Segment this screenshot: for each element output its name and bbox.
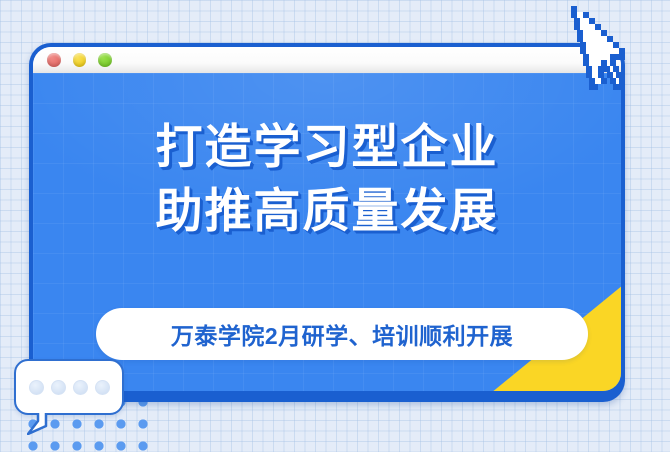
headline-line-1: 打造学习型企业 bbox=[33, 115, 621, 179]
maximize-button[interactable] bbox=[98, 53, 112, 67]
chat-bubble-tail bbox=[27, 409, 53, 435]
close-button[interactable] bbox=[47, 53, 61, 67]
browser-window-card: 打造学习型企业 助推高质量发展 万泰学院2月研学、培训顺利开展 bbox=[29, 43, 625, 402]
subtitle-pill: 万泰学院2月研学、培训顺利开展 bbox=[96, 308, 588, 360]
chat-bubble-dot-3 bbox=[73, 380, 88, 395]
subtitle-text: 万泰学院2月研学、培训顺利开展 bbox=[171, 317, 513, 351]
poster-canvas: 打造学习型企业 助推高质量发展 万泰学院2月研学、培训顺利开展 bbox=[0, 0, 670, 452]
minimize-button[interactable] bbox=[73, 53, 87, 67]
headline-line-2: 助推高质量发展 bbox=[33, 179, 621, 243]
headline-block: 打造学习型企业 助推高质量发展 bbox=[33, 115, 621, 244]
poster-content-area: 打造学习型企业 助推高质量发展 万泰学院2月研学、培训顺利开展 bbox=[33, 73, 621, 391]
chat-bubble-dot-4 bbox=[95, 380, 110, 395]
chat-bubble bbox=[14, 359, 124, 415]
browser-window-inner: 打造学习型企业 助推高质量发展 万泰学院2月研学、培训顺利开展 bbox=[33, 47, 621, 391]
chat-bubble-dot-2 bbox=[51, 380, 66, 395]
chat-bubble-dot-1 bbox=[29, 380, 44, 395]
browser-titlebar bbox=[33, 47, 621, 73]
mouse-cursor-icon bbox=[565, 2, 643, 94]
